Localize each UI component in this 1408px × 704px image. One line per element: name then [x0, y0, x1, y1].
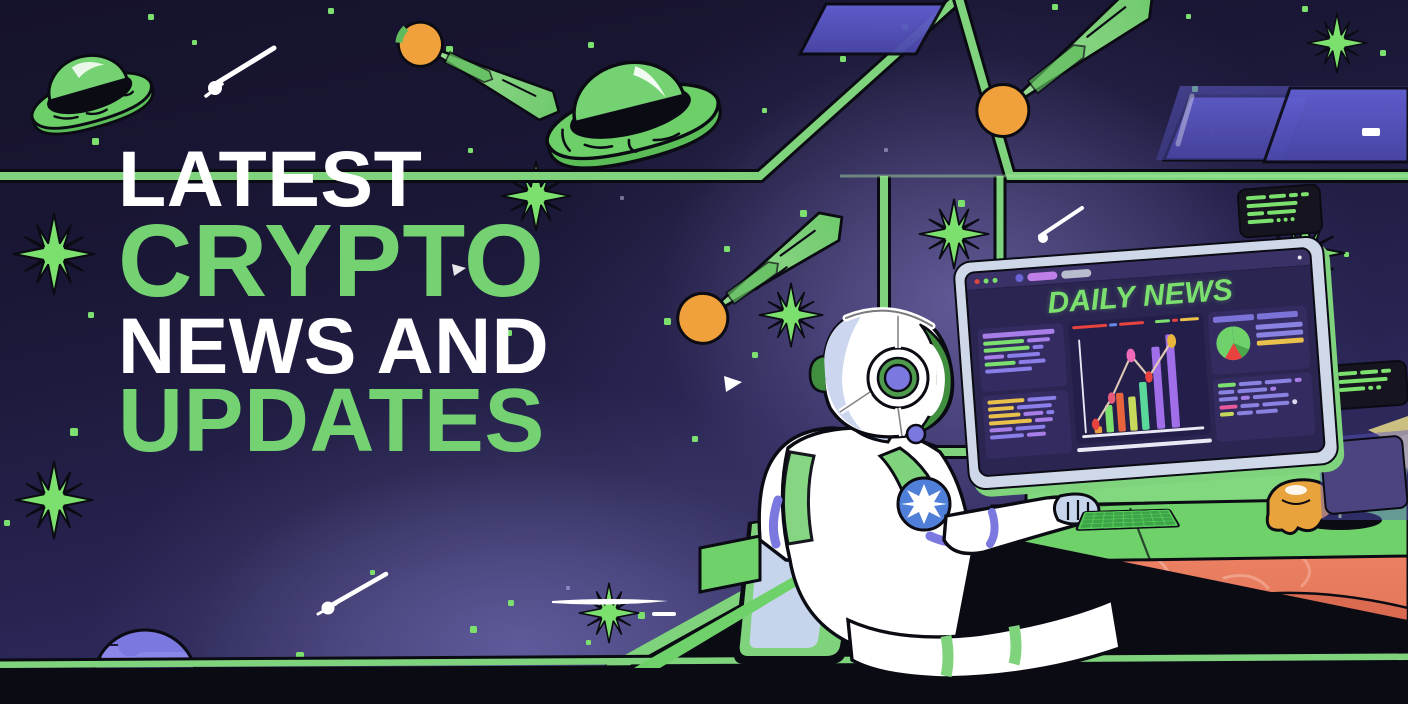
- banner-illustration: LATEST CRYPTO NEWS AND UPDATES DAILY NEW…: [0, 0, 1408, 704]
- combo-chart: [1073, 323, 1207, 444]
- dashboard-left-column: [977, 323, 1073, 459]
- terminal-line: [1246, 201, 1298, 209]
- browser-tab-active[interactable]: [1027, 271, 1058, 281]
- key[interactable]: [1091, 524, 1101, 528]
- terminal-line: [1338, 368, 1398, 376]
- window-maximize-icon[interactable]: [992, 277, 997, 282]
- monitor[interactable]: DAILY NEWS: [952, 235, 1340, 492]
- comet-icon: [391, 15, 568, 132]
- key[interactable]: [1080, 524, 1091, 528]
- ufo-small-icon: [533, 43, 727, 181]
- key[interactable]: [1165, 521, 1176, 525]
- monitor-screen: DAILY NEWS: [964, 247, 1326, 478]
- key[interactable]: [1144, 522, 1154, 526]
- key[interactable]: [1113, 523, 1123, 527]
- stats-list-card[interactable]: [982, 390, 1073, 459]
- key[interactable]: [1154, 521, 1165, 525]
- terminal-line: [1248, 216, 1314, 225]
- browser-tab[interactable]: [1015, 274, 1024, 283]
- chart-card[interactable]: [1068, 313, 1211, 445]
- dashboard-right-column: [1207, 305, 1315, 442]
- key[interactable]: [1134, 522, 1144, 526]
- terminal-line: [1339, 377, 1388, 384]
- shooting-star-icon: [206, 48, 274, 96]
- keyboard[interactable]: [1075, 509, 1182, 531]
- terminal-line: [1247, 208, 1313, 217]
- side-terminal-screen-bottom[interactable]: [1328, 359, 1408, 410]
- dashboard-center-column: [1068, 313, 1212, 452]
- article-list-card[interactable]: [977, 323, 1068, 392]
- terminal-line: [1339, 384, 1399, 392]
- ufo-large-icon: [20, 40, 159, 143]
- headline-line-2: CRYPTO: [118, 217, 549, 306]
- window-glass-panel: [800, 4, 944, 54]
- sparkle-star-icon: [1307, 13, 1367, 73]
- headline-line-3: NEWS AND: [118, 312, 549, 380]
- browser-tab[interactable]: [1061, 269, 1092, 279]
- window-close-icon[interactable]: [974, 278, 979, 283]
- headline-line-4: UPDATES: [118, 383, 549, 460]
- window-minimize-icon[interactable]: [983, 278, 988, 283]
- page-title: LATEST CRYPTO NEWS AND UPDATES: [118, 145, 549, 461]
- feed-list-card[interactable]: [1212, 372, 1316, 442]
- side-terminal-screen-top[interactable]: [1236, 183, 1323, 239]
- dashboard: [970, 300, 1323, 467]
- window-glass-panel: [1264, 88, 1408, 162]
- pie-chart: [1213, 323, 1253, 363]
- status-indicator: [1298, 255, 1302, 259]
- terminal-line: [1246, 192, 1312, 201]
- pie-chart-card[interactable]: [1207, 305, 1311, 375]
- key[interactable]: [1124, 523, 1134, 527]
- sparkle-star-icon: [16, 462, 93, 539]
- sparkle-star-icon: [14, 214, 95, 295]
- key[interactable]: [1102, 523, 1112, 527]
